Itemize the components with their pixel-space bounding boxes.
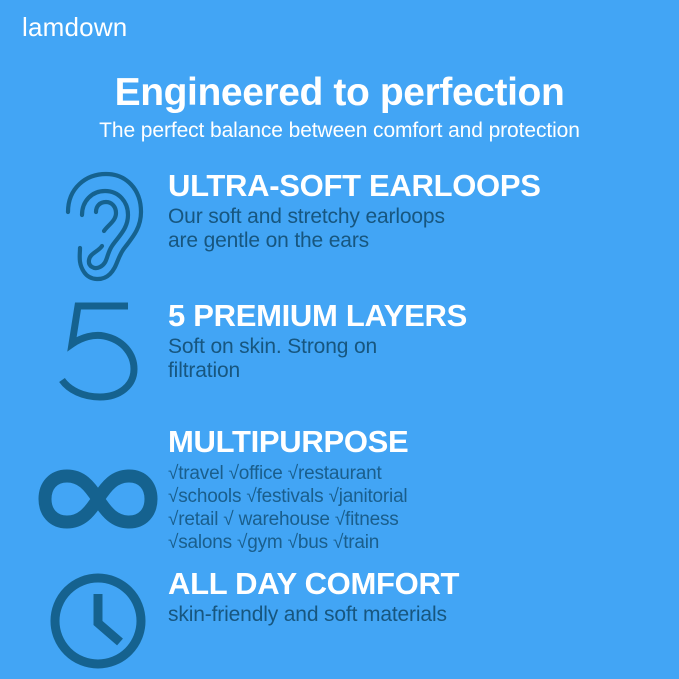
feature-description-line: are gentle on the ears (168, 229, 668, 253)
feature-row-layers: 5 PREMIUM LAYERS Soft on skin. Strong on… (28, 298, 668, 402)
feature-description: Our soft and stretchy earloops are gentl… (168, 205, 668, 254)
feature-title: ALL DAY COMFORT (168, 568, 668, 600)
feature-text-multipurpose: MULTIPURPOSE √travel √office √restaurant… (168, 424, 668, 554)
list-item: √retail √ warehouse √fitness (168, 508, 668, 531)
multipurpose-use-list: √travel √office √restaurant √schools √fe… (168, 462, 668, 555)
feature-description: skin-friendly and soft materials (168, 603, 668, 627)
feature-title: MULTIPURPOSE (168, 426, 668, 458)
brand-logo: lamdown (22, 14, 127, 40)
list-item: √schools √festivals √janitorial (168, 485, 668, 508)
feature-text-earloops: ULTRA-SOFT EARLOOPS Our soft and stretch… (168, 168, 668, 253)
feature-description-line: filtration (168, 359, 668, 383)
feature-description: Soft on skin. Strong on filtration (168, 335, 668, 384)
feature-title: ULTRA-SOFT EARLOOPS (168, 170, 668, 202)
feature-description-line: skin-friendly and soft materials (168, 603, 668, 627)
page-title: Engineered to perfection (0, 72, 679, 114)
infinity-icon (28, 424, 168, 534)
page-subtitle: The perfect balance between comfort and … (0, 119, 679, 143)
feature-description-line: Our soft and stretchy earloops (168, 205, 668, 229)
feature-row-earloops: ULTRA-SOFT EARLOOPS Our soft and stretch… (28, 168, 668, 286)
number-five-icon (28, 298, 168, 402)
list-item: √travel √office √restaurant (168, 462, 668, 485)
clock-icon (28, 566, 168, 672)
feature-text-comfort: ALL DAY COMFORT skin-friendly and soft m… (168, 566, 668, 627)
feature-title: 5 PREMIUM LAYERS (168, 300, 668, 332)
feature-row-comfort: ALL DAY COMFORT skin-friendly and soft m… (28, 566, 668, 672)
feature-text-layers: 5 PREMIUM LAYERS Soft on skin. Strong on… (168, 298, 668, 383)
ear-icon (28, 168, 168, 286)
feature-row-multipurpose: MULTIPURPOSE √travel √office √restaurant… (28, 424, 668, 554)
promo-poster: lamdown Engineered to perfection The per… (0, 0, 679, 679)
list-item: √salons √gym √bus √train (168, 531, 668, 554)
feature-description-line: Soft on skin. Strong on (168, 335, 668, 359)
